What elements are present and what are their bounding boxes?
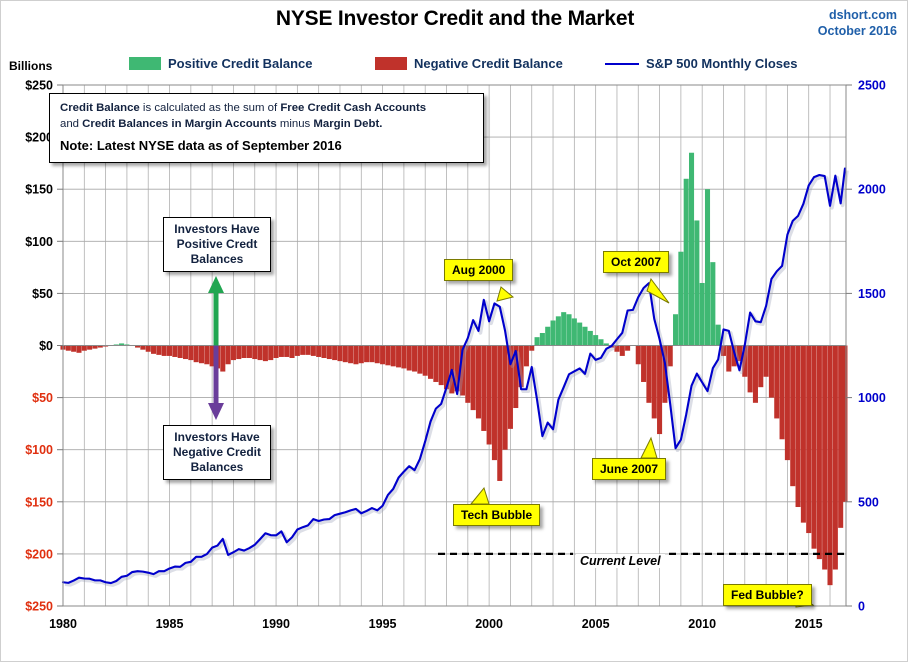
svg-text:$100: $100 [25,235,53,249]
svg-text:$50: $50 [32,391,53,405]
definition-line: Credit Balance is calculated as the sum … [60,101,473,117]
svg-text:1985: 1985 [156,617,184,631]
callout-tech-bubble: Tech Bubble [453,504,540,526]
svg-text:500: 500 [858,495,879,509]
svg-text:2010: 2010 [688,617,716,631]
svg-text:1500: 1500 [858,287,886,301]
svg-text:1995: 1995 [369,617,397,631]
definition-line-2: and Credit Balances in Margin Accounts m… [60,117,473,133]
svg-text:$250: $250 [25,600,53,614]
svg-text:$200: $200 [25,547,53,561]
svg-text:2015: 2015 [795,617,823,631]
definition-text-1: is calculated as the sum of [140,102,281,114]
definition-text-3: minus [277,118,314,130]
callout-june-2007: June 2007 [592,458,666,480]
latest-data-note: Note: Latest NYSE data as of September 2… [60,138,473,154]
callout-fed-bubble: Fed Bubble? [723,584,812,606]
svg-text:$0: $0 [39,339,53,353]
svg-text:2005: 2005 [582,617,610,631]
callout-oct-2007: Oct 2007 [603,251,669,273]
svg-text:$150: $150 [25,495,53,509]
definition-term-1: Credit Balance [60,102,140,114]
definition-note-box: Credit Balance is calculated as the sum … [49,93,484,163]
svg-text:1000: 1000 [858,391,886,405]
svg-text:2000: 2000 [858,183,886,197]
positive-balance-annotation-box: Investors Have Positive Credt Balances [163,217,271,272]
negative-balance-annotation-box: Investors Have Negative Credit Balances [163,425,271,480]
svg-text:$50: $50 [32,287,53,301]
svg-text:1980: 1980 [49,617,77,631]
svg-text:$100: $100 [25,443,53,457]
svg-text:$250: $250 [25,79,53,93]
svg-text:1990: 1990 [262,617,290,631]
definition-text-2: and [60,118,82,130]
callout-aug-2000: Aug 2000 [444,259,513,281]
definition-term-2: Free Credit Cash Accounts [280,102,426,114]
svg-text:2000: 2000 [475,617,503,631]
definition-term-3: Credit Balances in Margin Accounts [82,118,277,130]
svg-text:0: 0 [858,600,865,614]
definition-term-4: Margin Debt. [313,118,382,130]
svg-text:2500: 2500 [858,79,886,93]
current-level-label: Current Level [576,554,665,568]
svg-text:$150: $150 [25,183,53,197]
chart-canvas: NYSE Investor Credit and the Market dsho… [0,0,908,662]
